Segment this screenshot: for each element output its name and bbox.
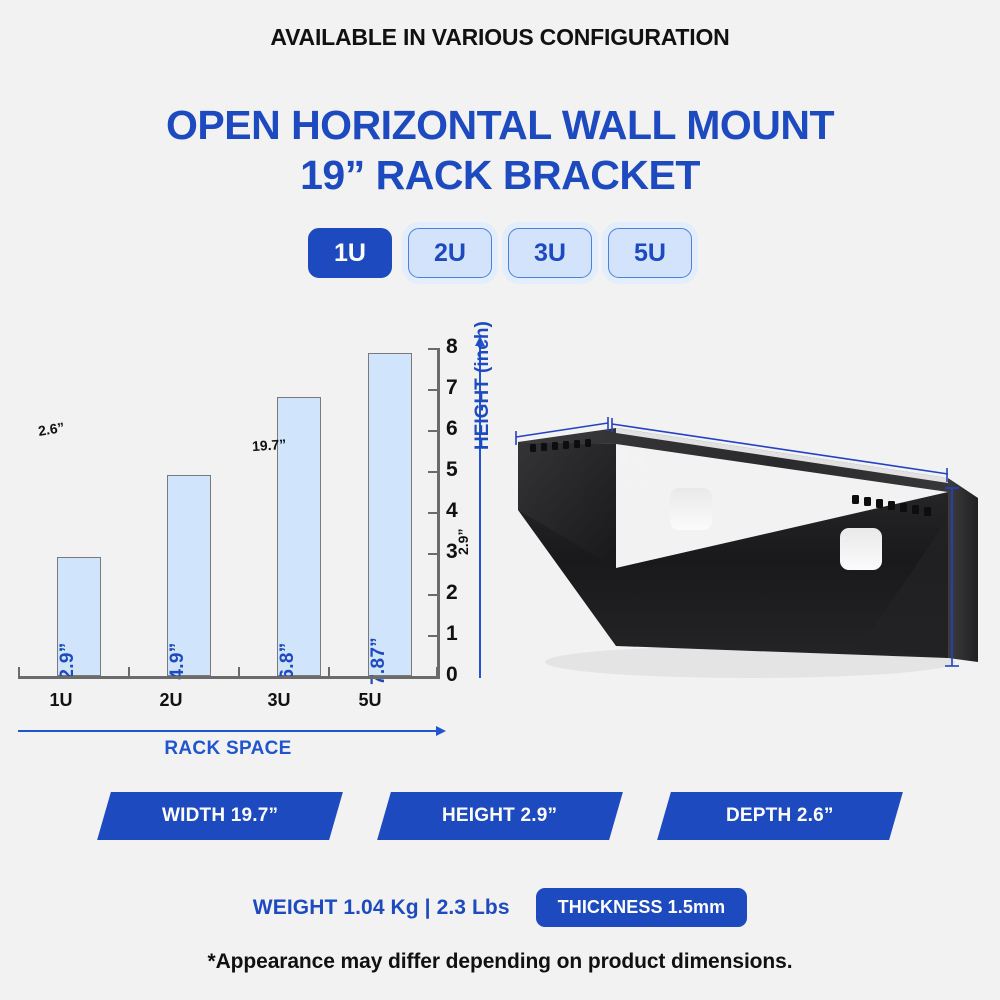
rack-unit-option-1u-label: 1U xyxy=(334,239,366,268)
y-axis-tick xyxy=(428,430,439,432)
small-hole-left xyxy=(621,479,627,485)
bar-2u-value-label: 4.9” xyxy=(167,642,189,679)
product-illustration xyxy=(500,400,1000,710)
x-axis-category-label-1u: 1U xyxy=(21,690,101,711)
dimension-label-width: 19.7” xyxy=(252,436,287,454)
footnote-text: *Appearance may differ depending on prod… xyxy=(0,950,1000,974)
spec-banner-width-label: WIDTH 19.7” xyxy=(162,805,278,827)
dimension-label-height: 2.9” xyxy=(455,529,471,555)
y-axis-tick xyxy=(428,512,439,514)
page-title-line-2: 19” RACK BRACKET xyxy=(0,150,1000,200)
rack-unit-option-3u-label: 3U xyxy=(534,239,566,268)
bar-3u-value-label: 6.8” xyxy=(277,642,299,679)
bracket-top-flange-highlight xyxy=(616,428,948,483)
y-axis-tick-label-4: 4 xyxy=(446,499,472,523)
chart-plot-area: 2.9” 4.9” 6.8” 7.87” xyxy=(18,348,438,676)
keyhole-slot-right-shape xyxy=(638,450,646,468)
keyhole-slot-left-shape xyxy=(620,448,628,466)
spec-banner-height-label: HEIGHT 2.9” xyxy=(442,805,557,827)
x-axis-tick xyxy=(128,667,130,677)
rack-unit-selector: 1U 2U 3U 5U xyxy=(0,228,1000,278)
x-axis-tick xyxy=(238,667,240,677)
spec-banner-depth-label: DEPTH 2.6” xyxy=(726,805,834,827)
x-axis-title: RACK SPACE xyxy=(18,738,438,760)
rack-height-bar-chart: 2.9” 4.9” 6.8” 7.87” 8 7 6 5 4 3 2 1 0 1… xyxy=(0,330,520,770)
rack-unit-option-3u[interactable]: 3U xyxy=(508,228,592,278)
page-title: OPEN HORIZONTAL WALL MOUNT 19” RACK BRAC… xyxy=(0,100,1000,200)
bar-2u: 4.9” xyxy=(167,475,211,676)
weight-thickness-row: WEIGHT 1.04 Kg | 2.3 Lbs THICKNESS 1.5mm xyxy=(0,888,1000,927)
y-axis-tick xyxy=(428,635,439,637)
thickness-badge: THICKNESS 1.5mm xyxy=(536,888,748,927)
y-axis-tick xyxy=(428,348,439,350)
rack-unit-option-5u-label: 5U xyxy=(634,239,666,268)
y-axis-tick-label-6: 6 xyxy=(446,417,472,441)
rack-unit-option-5u[interactable]: 5U xyxy=(608,228,692,278)
page-title-line-1: OPEN HORIZONTAL WALL MOUNT xyxy=(166,102,834,148)
bar-1u: 2.9” xyxy=(57,557,101,676)
eyebrow-heading: AVAILABLE IN VARIOUS CONFIGURATION xyxy=(0,24,1000,51)
cable-cutout-right xyxy=(840,528,882,570)
x-axis-category-label-5u: 5U xyxy=(330,690,410,711)
y-axis-tick-label-1: 1 xyxy=(446,622,472,646)
spec-banner-row: WIDTH 19.7” HEIGHT 2.9” DEPTH 2.6” xyxy=(0,792,1000,840)
rack-unit-option-2u[interactable]: 2U xyxy=(408,228,492,278)
y-axis-title: HEIGHT (inch) xyxy=(472,321,494,450)
x-axis-arrow-icon xyxy=(18,730,438,732)
x-axis-category-label-3u: 3U xyxy=(239,690,319,711)
bar-5u: 7.87” xyxy=(368,353,412,676)
y-axis-tick-label-5: 5 xyxy=(446,458,472,482)
cable-cutout-left xyxy=(670,488,712,530)
spec-banner-depth: DEPTH 2.6” xyxy=(657,792,903,840)
y-axis-tick-label-7: 7 xyxy=(446,376,472,400)
rack-unit-option-1u[interactable]: 1U xyxy=(308,228,392,278)
x-axis-category-label-2u: 2U xyxy=(131,690,211,711)
y-axis-tick-label-8: 8 xyxy=(446,335,472,359)
y-axis-tick xyxy=(428,553,439,555)
x-axis-tick xyxy=(18,667,20,677)
y-axis-tick xyxy=(428,389,439,391)
y-axis-tick-label-2: 2 xyxy=(446,581,472,605)
spec-banner-width: WIDTH 19.7” xyxy=(97,792,343,840)
x-axis-line xyxy=(18,676,438,679)
y-axis-tick xyxy=(428,676,439,678)
bar-1u-value-label: 2.9” xyxy=(57,642,79,679)
y-axis-tick xyxy=(428,471,439,473)
small-hole-right xyxy=(640,482,645,487)
x-axis-tick xyxy=(328,667,330,677)
rack-unit-option-2u-label: 2U xyxy=(434,239,466,268)
spec-banner-height: HEIGHT 2.9” xyxy=(377,792,623,840)
y-axis-tick xyxy=(428,594,439,596)
weight-label: WEIGHT 1.04 Kg | 2.3 Lbs xyxy=(253,896,510,920)
keyhole-slot-group xyxy=(620,448,646,487)
y-axis-tick-label-0: 0 xyxy=(446,663,472,687)
